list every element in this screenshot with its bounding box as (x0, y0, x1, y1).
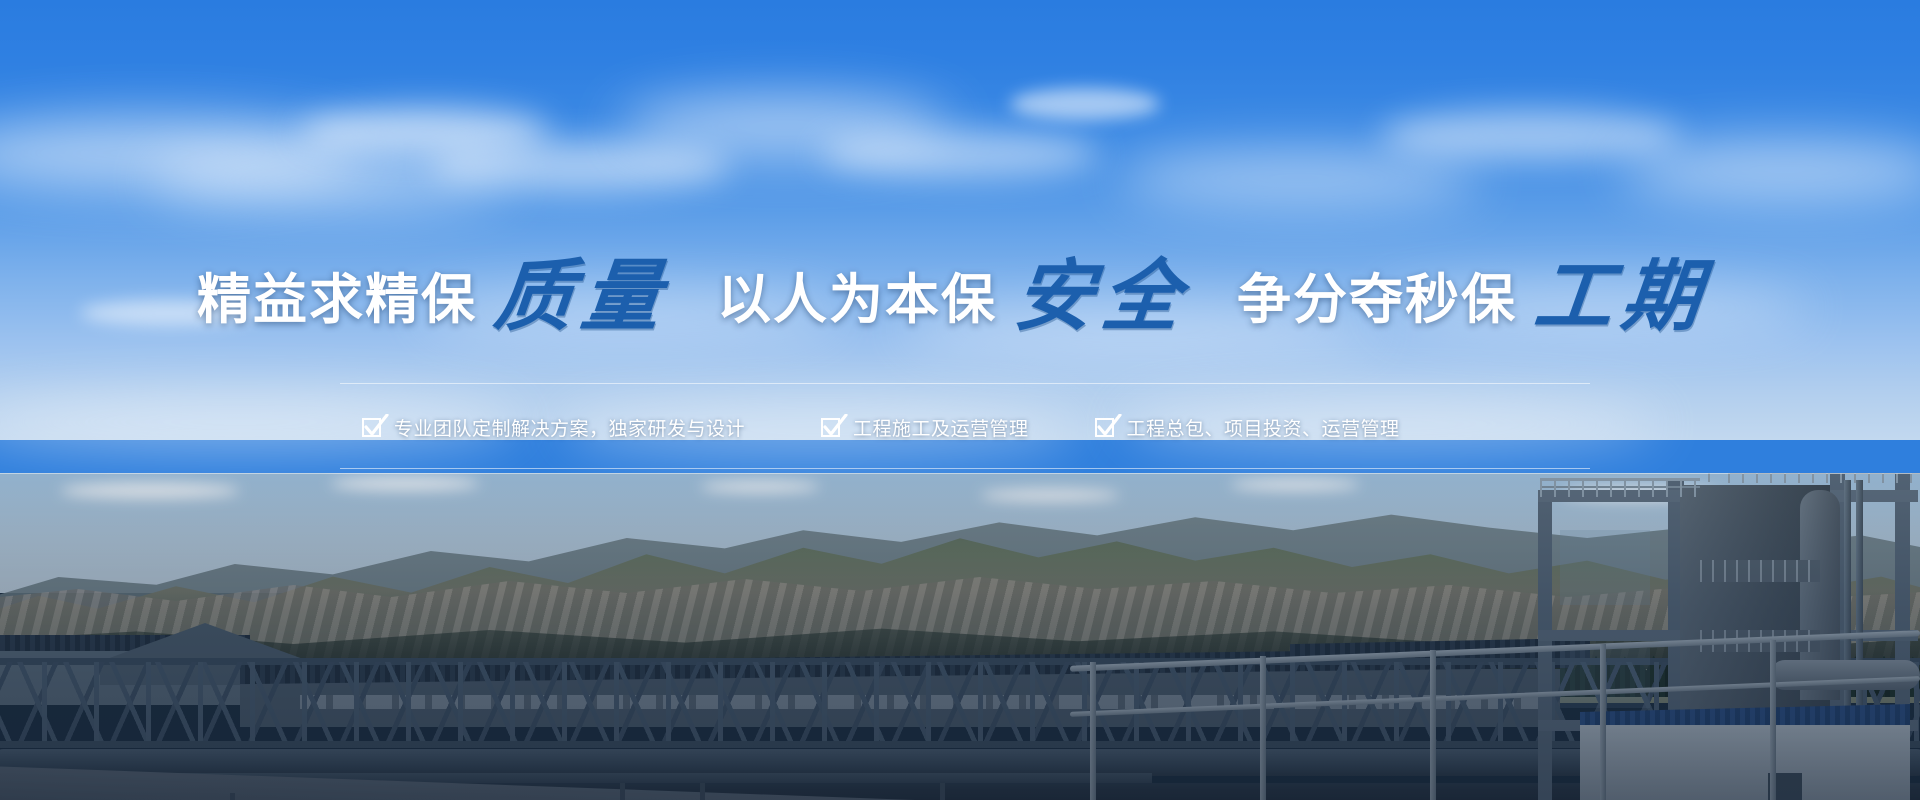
feature-label-1: 专业团队定制解决方案，独家研发与设计 (394, 414, 745, 441)
headline-plain-3: 争分夺秒保 (1237, 273, 1517, 327)
headline-calligraphy-3: 工期 (1513, 261, 1727, 333)
headline-plain-1: 精益求精保 (197, 273, 477, 327)
checkbox-checked-icon (362, 418, 381, 437)
banner-hero: 精益求精保 质量 以人为本保 安全 争分夺秒保 工期 (0, 0, 1920, 800)
feature-item-3: 工程总包、项目投资、运营管理 (1095, 414, 1400, 441)
divider-line-bottom (340, 468, 1590, 469)
headline-segment-2: 以人为本保 安全 (717, 255, 1203, 327)
feature-label-3: 工程总包、项目投资、运营管理 (1127, 414, 1400, 441)
feature-item-1: 专业团队定制解决方案，独家研发与设计 (362, 414, 745, 441)
banner-overlay: 精益求精保 质量 以人为本保 安全 争分夺秒保 工期 (0, 0, 1920, 800)
feature-item-2: 工程施工及运营管理 (821, 414, 1029, 441)
headline-calligraphy-2: 安全 (993, 261, 1207, 333)
feature-label-2: 工程施工及运营管理 (853, 414, 1029, 441)
headline: 精益求精保 质量 以人为本保 安全 争分夺秒保 工期 (0, 255, 1920, 327)
headline-calligraphy-1: 质量 (473, 261, 687, 333)
feature-list: 专业团队定制解决方案，独家研发与设计 工程施工及运营管理 工程总包、项目投资、运… (340, 404, 1590, 450)
headline-segment-1: 精益求精保 质量 (197, 255, 683, 327)
checkbox-checked-icon (1095, 418, 1114, 437)
headline-plain-2: 以人为本保 (717, 273, 997, 327)
divider-line-top (340, 383, 1590, 384)
checkbox-checked-icon (821, 418, 840, 437)
headline-segment-3: 争分夺秒保 工期 (1237, 255, 1723, 327)
